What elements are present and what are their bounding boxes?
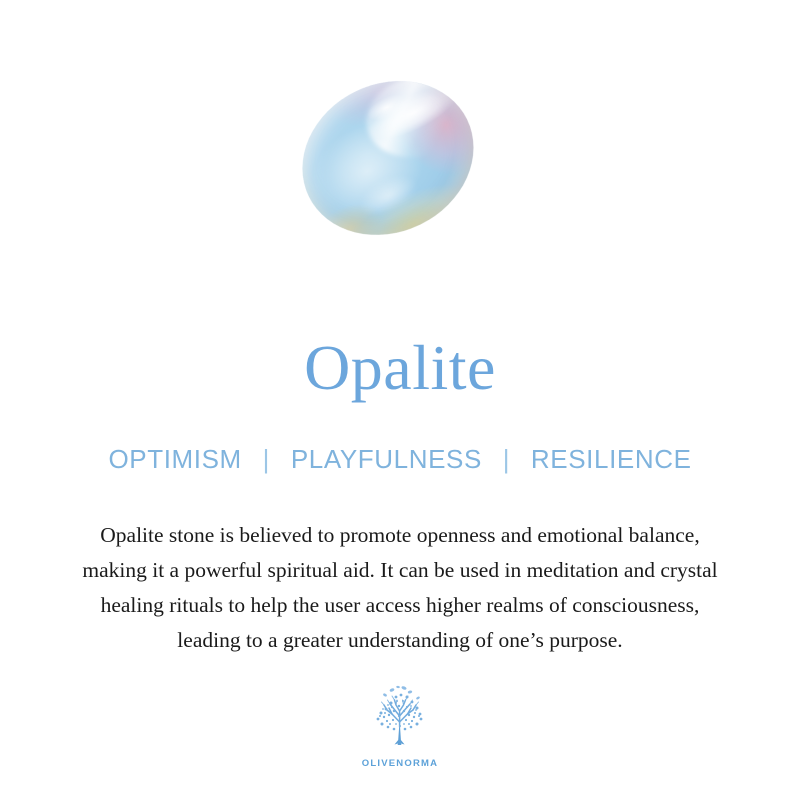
opalite-stone-body [276, 53, 499, 263]
keyword-separator: | [263, 444, 270, 475]
tree-logo-icon [363, 682, 437, 756]
description-paragraph: Opalite stone is believed to promote ope… [26, 518, 774, 658]
description-line: healing rituals to help the user access … [26, 588, 774, 623]
opalite-stone-image [288, 72, 488, 248]
keyword-separator: | [503, 444, 510, 475]
description-line: leading to a greater understanding of on… [26, 623, 774, 658]
hero-image-area [0, 0, 800, 300]
description-line: Opalite stone is believed to promote ope… [26, 518, 774, 553]
keyword-resilience: RESILIENCE [531, 444, 692, 474]
brand-name: OLIVENORMA [350, 758, 450, 769]
keyword-list: OPTIMISM | PLAYFULNESS | RESILIENCE [0, 444, 800, 475]
gemstone-info-card: Opalite OPTIMISM | PLAYFULNESS | RESILIE… [0, 0, 800, 800]
description-line: making it a powerful spiritual aid. It c… [26, 553, 774, 588]
brand-logo: OLIVENORMA [350, 682, 450, 782]
keyword-optimism: OPTIMISM [108, 444, 241, 474]
page-title: Opalite [0, 336, 800, 400]
keyword-playfulness: PLAYFULNESS [291, 444, 482, 474]
